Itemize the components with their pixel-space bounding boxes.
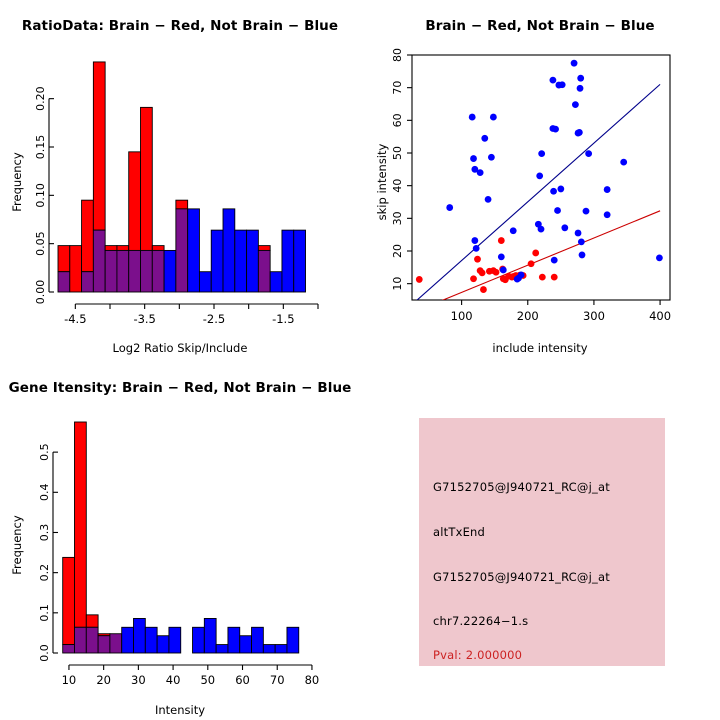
scatter-point: [551, 274, 558, 281]
histogram-bar: [193, 627, 205, 653]
histogram-bar-overlap: [93, 230, 105, 292]
histogram-bar: [199, 272, 211, 292]
histogram-bar: [275, 645, 287, 653]
y-tick-label: 0.4: [38, 484, 51, 502]
figure-canvas: RatioData: Brain − Red, Not Brain − Blue…: [0, 0, 720, 720]
histogram-bar: [282, 230, 294, 292]
histogram-bar: [252, 627, 264, 653]
scatter-point: [604, 186, 611, 193]
x-tick-label: -1.5: [272, 312, 294, 326]
histogram-bar: [223, 209, 235, 292]
histogram-bar: [105, 246, 117, 251]
y-tick-label: 0.00: [34, 280, 47, 305]
scatter-point: [656, 254, 663, 261]
scatter-point: [577, 75, 584, 82]
histogram-bar: [82, 200, 94, 272]
histogram-bar: [141, 107, 153, 250]
histogram-bar-overlap: [117, 250, 129, 292]
panel-ratio-histogram: RatioData: Brain − Red, Not Brain − Blue…: [0, 0, 360, 360]
histogram-bar-overlap: [82, 272, 94, 292]
scatter-points: [416, 60, 663, 293]
scatter-point: [583, 208, 590, 215]
scatter-point: [488, 154, 495, 161]
y-tick-label: 50: [391, 146, 404, 160]
panel-info: G7152705@J940721_RC@j_at altTxEnd G71527…: [360, 360, 720, 720]
ratio-hist-ylabel: Frequency: [10, 107, 24, 257]
scatter-point: [557, 186, 564, 193]
x-tick-label: 40: [166, 673, 181, 687]
histogram-bar-overlap: [129, 250, 141, 292]
y-tick-label: 10: [391, 277, 404, 291]
histogram-bar: [204, 618, 216, 653]
histogram-bar: [287, 627, 299, 653]
histogram-bar: [176, 200, 188, 209]
ratio-histogram-plot: 0.000.050.100.150.20-4.5-3.5-2.5-1.5: [0, 0, 360, 360]
scatter-point: [446, 204, 453, 211]
scatter-point: [571, 60, 578, 67]
y-tick-label: 0.0: [38, 644, 51, 662]
y-tick-label: 0.1: [38, 604, 51, 622]
histogram-bar: [240, 636, 252, 653]
histogram-bar: [58, 246, 70, 272]
scatter-point: [578, 238, 585, 245]
scatter-point: [550, 77, 557, 84]
gene-hist-ylabel: Frequency: [10, 470, 24, 620]
info-line-probeset-1: G7152705@J940721_RC@j_at: [433, 480, 610, 494]
scatter-point: [554, 207, 561, 214]
x-tick-label: 20: [96, 673, 111, 687]
scatter-point: [471, 237, 478, 244]
y-tick-label: 80: [391, 48, 404, 62]
scatter-point: [538, 226, 545, 233]
scatter-xlabel: include intensity: [360, 341, 720, 355]
y-tick-label: 0.5: [38, 443, 51, 461]
histogram-bar: [188, 209, 200, 292]
x-tick-label: 50: [200, 673, 215, 687]
scatter-point: [572, 101, 579, 108]
x-tick-label: 300: [583, 309, 605, 323]
scatter-point: [576, 129, 583, 136]
histogram-bar-overlap: [105, 250, 117, 292]
panel-gene-histogram: Gene Itensity: Brain − Red, Not Brain − …: [0, 360, 360, 720]
scatter-point: [536, 172, 543, 179]
scatter-ylabel: skip intensity: [375, 107, 389, 257]
histogram-bar-overlap: [63, 645, 75, 653]
histogram-bar-overlap: [74, 627, 86, 653]
scatter-point: [552, 126, 559, 133]
x-tick-label: 10: [62, 673, 77, 687]
histogram-bar-overlap: [152, 250, 164, 292]
ratio-hist-bars: [58, 62, 306, 292]
x-tick-label: -4.5: [64, 312, 86, 326]
scatter-point: [474, 256, 481, 263]
histogram-bar: [70, 246, 82, 292]
scatter-point: [498, 237, 505, 244]
scatter-point: [577, 85, 584, 92]
x-tick-label: 70: [270, 673, 285, 687]
panel-scatter: Brain − Red, Not Brain − Blue 1020304050…: [360, 0, 720, 360]
histogram-bar: [216, 645, 228, 653]
y-tick-label: 0.10: [34, 183, 47, 208]
histogram-bar: [270, 272, 282, 292]
histogram-bar: [169, 627, 181, 653]
scatter-point: [550, 188, 557, 195]
scatter-point: [539, 274, 546, 281]
scatter-axes: 1020304050607080100200300400: [391, 48, 671, 323]
y-tick-label: 0.3: [38, 524, 51, 542]
gene-hist-title: Gene Itensity: Brain − Red, Not Brain − …: [0, 380, 360, 396]
x-tick-label: -3.5: [133, 312, 155, 326]
histogram-bar-overlap: [98, 636, 110, 653]
scatter-point: [528, 260, 535, 267]
scatter-point: [538, 150, 545, 157]
x-tick-label: 100: [451, 309, 473, 323]
scatter-point: [490, 114, 497, 121]
scatter-point: [493, 269, 500, 276]
y-tick-label: 0.20: [34, 86, 47, 111]
scatter-point: [510, 227, 517, 234]
scatter-point: [480, 286, 487, 293]
scatter-point: [481, 135, 488, 142]
scatter-point: [620, 159, 627, 166]
gene-hist-bars: [63, 422, 299, 653]
histogram-bar: [134, 618, 146, 653]
x-tick-label: 200: [517, 309, 539, 323]
y-tick-label: 40: [391, 179, 404, 193]
gene-hist-xlabel: Intensity: [0, 703, 360, 717]
histogram-bar-overlap: [258, 250, 270, 292]
y-tick-label: 70: [391, 81, 404, 95]
scatter-point: [561, 224, 568, 231]
gene-histogram-plot: 0.00.10.20.30.40.51020304050607080: [0, 360, 360, 720]
histogram-bar-overlap: [141, 250, 153, 292]
y-tick-label: 0.2: [38, 564, 51, 582]
histogram-bar-overlap: [58, 272, 70, 292]
scatter-point: [518, 271, 525, 278]
scatter-point: [498, 253, 505, 260]
scatter-point: [532, 250, 539, 257]
x-tick-label: -2.5: [203, 312, 225, 326]
histogram-bar: [211, 230, 223, 292]
histogram-bar: [129, 152, 141, 251]
histogram-bar-overlap: [110, 634, 122, 653]
y-tick-label: 30: [391, 211, 404, 225]
histogram-bar: [258, 246, 270, 251]
histogram-bar: [145, 627, 157, 653]
y-tick-label: 0.15: [34, 135, 47, 160]
scatter-fit-lines: [415, 84, 660, 301]
histogram-bar: [263, 645, 275, 653]
scatter-point: [604, 211, 611, 218]
histogram-bar: [247, 230, 259, 292]
info-line-event-type: altTxEnd: [433, 525, 485, 539]
ratio-hist-title: RatioData: Brain − Red, Not Brain − Blue: [0, 18, 360, 34]
ratio-hist-xlabel: Log2 Ratio Skip/Include: [0, 341, 360, 355]
scatter-point: [470, 275, 477, 282]
histogram-bar: [228, 627, 240, 653]
histogram-bar: [93, 62, 105, 230]
scatter-point: [485, 196, 492, 203]
x-tick-label: 60: [235, 673, 250, 687]
scatter-point: [579, 252, 586, 259]
scatter-point: [559, 81, 566, 88]
histogram-bar: [74, 422, 86, 627]
histogram-bar: [117, 246, 129, 251]
histogram-bar: [152, 246, 164, 251]
scatter-point: [575, 230, 582, 237]
histogram-bar: [63, 557, 75, 644]
scatter-point: [585, 150, 592, 157]
histogram-bar: [294, 230, 306, 292]
histogram-bar: [122, 627, 134, 653]
histogram-bar: [164, 250, 176, 292]
histogram-bar-overlap: [176, 209, 188, 292]
scatter-point: [416, 276, 423, 283]
scatter-point: [470, 155, 477, 162]
fit-line-brain-fit: [439, 211, 660, 302]
histogram-bar: [157, 636, 169, 653]
scatter-point: [469, 114, 476, 121]
scatter-point: [473, 245, 480, 252]
scatter-plot: 1020304050607080100200300400: [360, 0, 720, 360]
x-tick-label: 30: [131, 673, 146, 687]
info-line-probeset-2: G7152705@J940721_RC@j_at: [433, 570, 610, 584]
y-tick-label: 0.05: [34, 231, 47, 256]
info-line-pval: Pval: 2.000000: [433, 648, 522, 662]
scatter-point: [479, 269, 486, 276]
histogram-bar: [235, 230, 247, 292]
fit-line-not-brain-fit: [415, 84, 660, 301]
scatter-point: [551, 257, 558, 264]
x-tick-label: 80: [305, 673, 320, 687]
scatter-point: [500, 267, 507, 274]
x-tick-label: 400: [649, 309, 671, 323]
histogram-bar-overlap: [86, 627, 98, 653]
y-tick-label: 20: [391, 244, 404, 258]
info-panel-box: G7152705@J940721_RC@j_at altTxEnd G71527…: [419, 418, 665, 666]
scatter-title: Brain − Red, Not Brain − Blue: [360, 18, 720, 34]
histogram-bar: [86, 615, 98, 627]
info-line-coordinate: chr7.22264−1.s: [433, 614, 528, 628]
y-tick-label: 60: [391, 113, 404, 127]
scatter-point: [477, 169, 484, 176]
